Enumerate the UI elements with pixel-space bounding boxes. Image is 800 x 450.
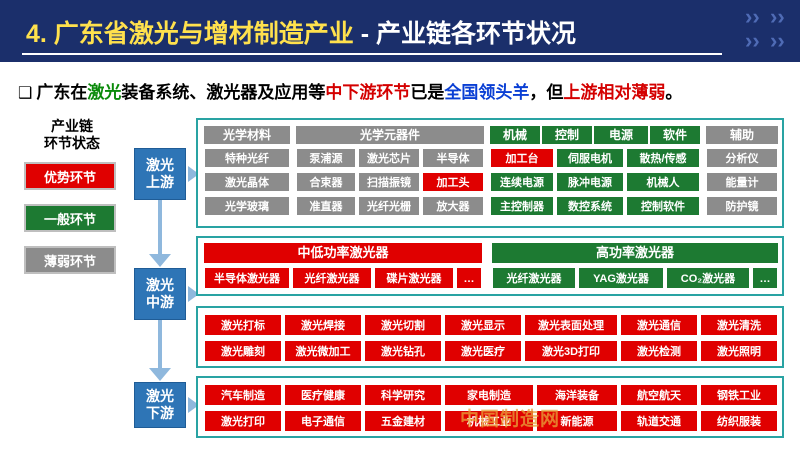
group-title-optical-components: 光学元器件	[296, 126, 484, 144]
cell-aerospace: 航空航天	[620, 384, 698, 406]
cell-laser-inspection: 激光检测	[620, 340, 698, 362]
subtitle-seg-4: 中下游环节	[325, 83, 410, 102]
application-panel: 激光打标 激光焊接 激光切割 激光显示 激光表面处理 激光通信 激光清洗 激光雕…	[196, 306, 784, 368]
cell-textile-apparel: 纺织服装	[700, 410, 778, 432]
cell-steel-industry: 钢铁工业	[700, 384, 778, 406]
cell-co2-laser: CO₂激光器	[666, 267, 750, 289]
subtitle-seg-9: 。	[665, 83, 682, 102]
cell-laser-display: 激光显示	[444, 314, 522, 336]
watermark: 中国制造网	[460, 404, 560, 431]
cell-laser-cutting: 激光切割	[364, 314, 442, 336]
cell-healthcare: 医疗健康	[284, 384, 362, 406]
cell-rail-transit: 轨道交通	[620, 410, 698, 432]
cell-scan-galvo: 扫描振镜	[358, 172, 420, 192]
stage-downstream-line1: 激光	[146, 388, 174, 405]
cell-laser-printing: 激光打印	[204, 410, 282, 432]
subtitle-seg-1: 广东在	[36, 83, 87, 102]
cell-laser-drilling: 激光钻孔	[364, 340, 442, 362]
cell-more-low: …	[456, 267, 482, 289]
cell-optical-glass: 光学玻璃	[204, 196, 290, 216]
cell-automotive: 汽车制造	[204, 384, 282, 406]
stage-connector	[158, 320, 162, 370]
cell-disc-laser: 碟片激光器	[374, 267, 454, 289]
cell-collimator: 准直器	[296, 196, 356, 216]
slide-header: 4. 广东省激光与增材制造产业 - 产业链各环节状况 ›› ›› ›› ››	[0, 0, 800, 62]
cell-laser-medical: 激光医疗	[444, 340, 522, 362]
legend-title-line-1: 产业链	[24, 118, 120, 135]
cell-scientific-research: 科学研究	[364, 384, 442, 406]
cell-laser-welding: 激光焊接	[284, 314, 362, 336]
cell-control-software: 控制软件	[626, 196, 700, 216]
cell-energy-meter: 能量计	[706, 172, 778, 192]
cell-laser-crystal: 激光晶体	[204, 172, 290, 192]
subtitle-seg-8: 上游相对薄弱	[563, 83, 665, 102]
cell-fiber-grating: 光纤光栅	[358, 196, 420, 216]
cell-combiner: 合束器	[296, 172, 356, 192]
cell-laser-microfabrication: 激光微加工	[284, 340, 362, 362]
cell-continuous-power: 连续电源	[490, 172, 554, 192]
legend-title-line-2: 环节状态	[24, 135, 120, 152]
group-title-machinery: 机械	[490, 126, 540, 144]
group-title-low-mid-power-laser: 中低功率激光器	[204, 243, 482, 263]
cell-more-high: …	[752, 267, 778, 289]
cell-marine-equipment: 海洋装备	[536, 384, 618, 406]
cell-laser-cleaning: 激光清洗	[700, 314, 778, 336]
midstream-laser-panel: 中低功率激光器 半导体激光器 光纤激光器 碟片激光器 … 高功率激光器 光纤激光…	[196, 236, 784, 296]
group-title-control: 控制	[542, 126, 592, 144]
cell-electronics-communication: 电子通信	[284, 410, 362, 432]
cell-pulsed-power: 脉冲电源	[556, 172, 624, 192]
title-dash: -	[354, 20, 376, 48]
group-title-power: 电源	[594, 126, 648, 144]
cell-amplifier: 放大器	[422, 196, 484, 216]
subtitle-seg-7: ，但	[529, 83, 563, 102]
cell-fiber-laser-low: 光纤激光器	[292, 267, 372, 289]
legend-title: 产业链 环节状态	[24, 118, 120, 152]
chevron-right-icon: ››	[745, 30, 760, 52]
cell-main-controller: 主控制器	[490, 196, 554, 216]
cell-servo-motor: 伺服电机	[556, 148, 624, 168]
legend-item-advantage: 优势环节	[24, 162, 116, 190]
title-part-1: 4. 广东省激光与增材制造产业	[26, 20, 354, 48]
stage-midstream: 激光 中游	[134, 268, 186, 320]
stage-arrow-down-icon	[149, 368, 171, 381]
subtitle-seg-6: 全国领头羊	[444, 83, 529, 102]
group-title-auxiliary: 辅助	[706, 126, 778, 144]
cell-laser-communication: 激光通信	[620, 314, 698, 336]
stage-midstream-line2: 中游	[146, 294, 174, 311]
cell-laser-chip: 激光芯片	[358, 148, 420, 168]
subtitle-seg-3: 装备系统、激光器及应用等	[121, 83, 325, 102]
group-title-software: 软件	[650, 126, 700, 144]
group-title-high-power-laser: 高功率激光器	[492, 243, 778, 263]
cell-analyzer: 分析仪	[706, 148, 778, 168]
stage-downstream: 激光 下游	[134, 382, 186, 428]
stage-upstream: 激光 上游	[134, 148, 186, 200]
cell-pump-source: 泵浦源	[296, 148, 356, 168]
stage-upstream-line2: 上游	[146, 174, 174, 191]
cell-laser-surface-treatment: 激光表面处理	[524, 314, 618, 336]
upstream-panel: 光学材料 特种光纤 激光晶体 光学玻璃 光学元器件 泵浦源 激光芯片 半导体 合…	[196, 118, 784, 228]
stage-downstream-line2: 下游	[146, 405, 174, 422]
cell-fiber-laser-high: 光纤激光器	[492, 267, 576, 289]
legend-item-weak: 薄弱环节	[24, 246, 116, 274]
cell-laser-lighting: 激光照明	[700, 340, 778, 362]
title-underline	[22, 53, 722, 55]
bullet-icon: ❑	[18, 85, 32, 102]
cell-robot: 机械人	[626, 172, 700, 192]
group-title-optical-materials: 光学材料	[204, 126, 290, 144]
subtitle-seg-5: 已是	[410, 83, 444, 102]
cell-cnc-system: 数控系统	[556, 196, 624, 216]
stage-midstream-line1: 激光	[146, 277, 174, 294]
cell-laser-marking: 激光打标	[204, 314, 282, 336]
chevron-right-icon: ››	[770, 6, 785, 28]
stage-arrow-down-icon	[149, 254, 171, 267]
cell-laser-3d-printing: 激光3D打印	[524, 340, 618, 362]
cell-yag-laser: YAG激光器	[578, 267, 664, 289]
legend: 产业链 环节状态 优势环节 一般环节 薄弱环节	[24, 118, 120, 288]
cell-hardware-building-materials: 五金建材	[364, 410, 442, 432]
subtitle-line: ❑广东在激光装备系统、激光器及应用等中下游环节已是全国领头羊，但上游相对薄弱。	[18, 78, 788, 104]
cell-processing-head: 加工头	[422, 172, 484, 192]
cell-work-table: 加工台	[490, 148, 554, 168]
cell-semiconductor: 半导体	[422, 148, 484, 168]
chevron-right-icon: ››	[770, 30, 785, 52]
cell-protective-goggles: 防护镜	[706, 196, 778, 216]
page-title: 4. 广东省激光与增材制造产业 - 产业链各环节状况	[26, 14, 576, 50]
cell-special-fiber: 特种光纤	[204, 148, 290, 168]
cell-home-appliance: 家电制造	[444, 384, 534, 406]
legend-item-normal: 一般环节	[24, 204, 116, 232]
stage-upstream-line1: 激光	[146, 157, 174, 174]
title-part-2: 产业链各环节状况	[376, 20, 576, 48]
stage-connector	[158, 200, 162, 256]
cell-semiconductor-laser: 半导体激光器	[204, 267, 290, 289]
chevron-right-icon: ››	[745, 6, 760, 28]
cell-cooling-sensor: 散热/传感	[626, 148, 700, 168]
subtitle-seg-2: 激光	[87, 83, 121, 102]
cell-laser-engraving: 激光雕刻	[204, 340, 282, 362]
